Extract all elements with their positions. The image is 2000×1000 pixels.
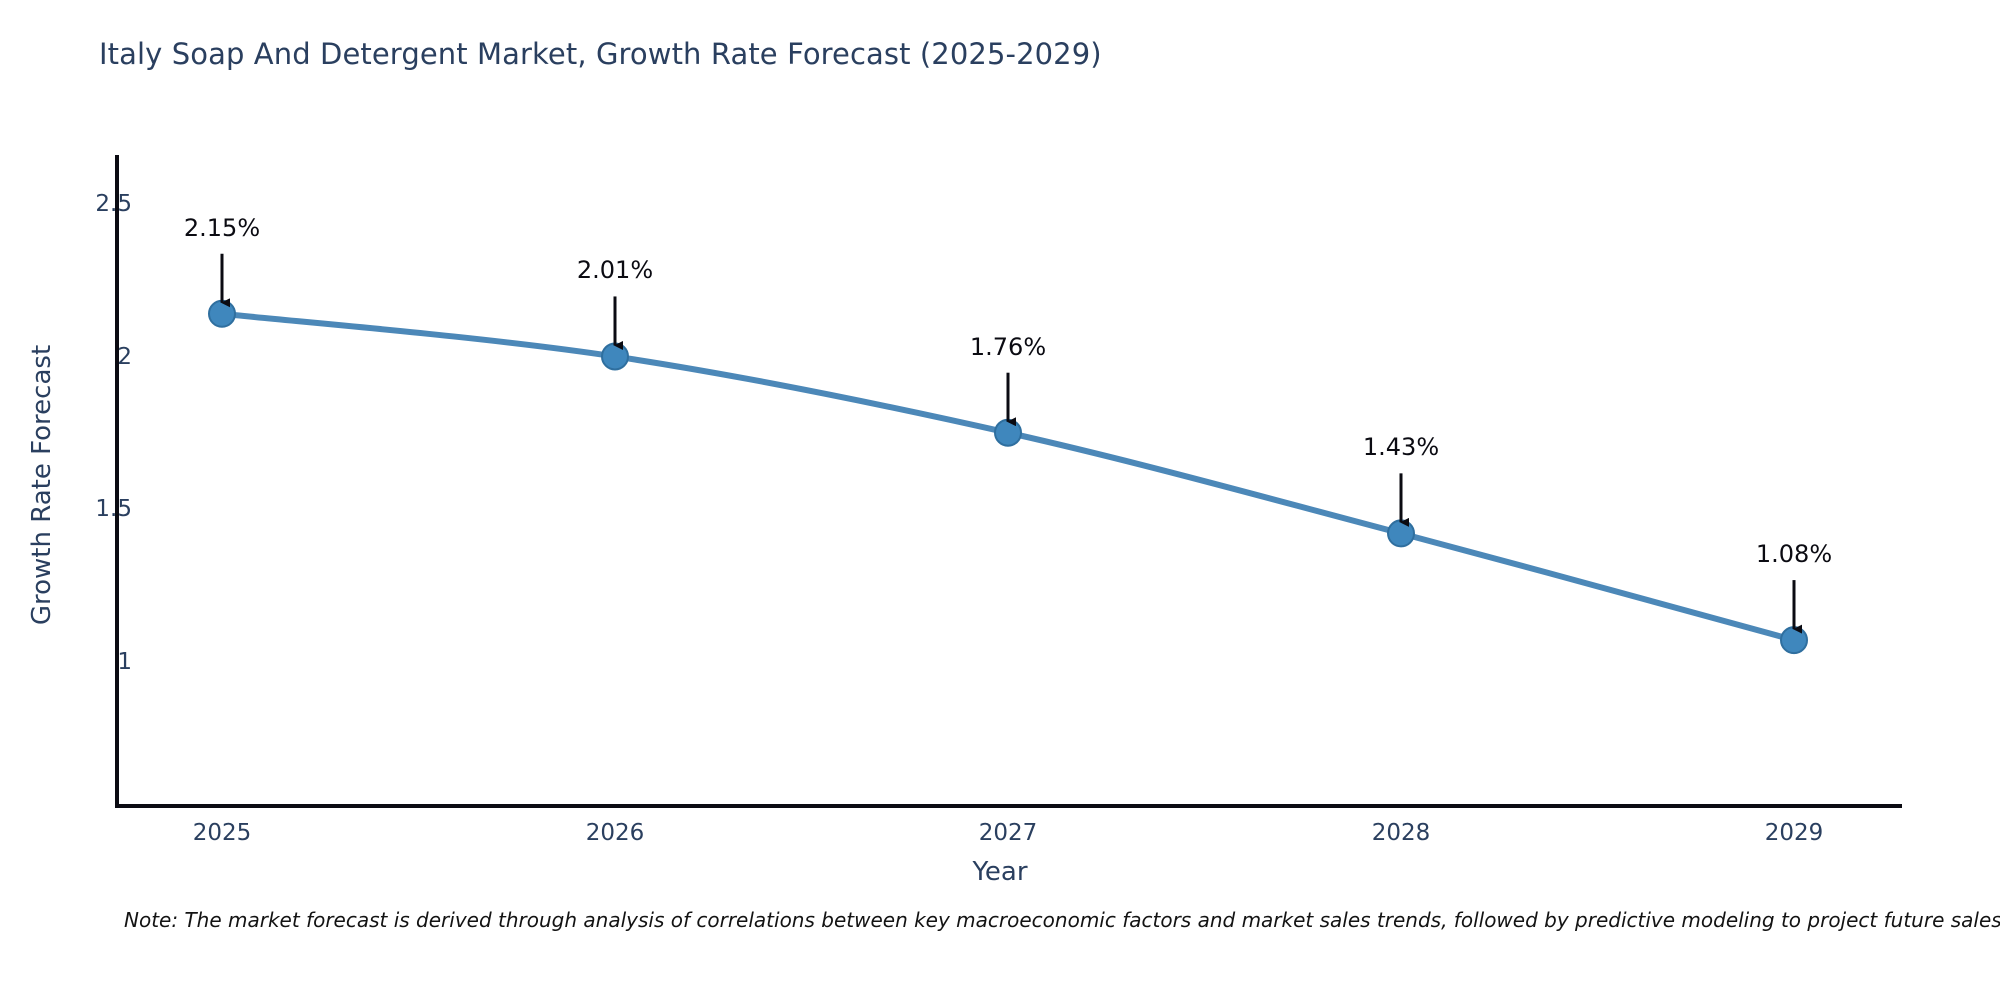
data-point-label: 1.43%: [1281, 433, 1521, 461]
plot-area: [0, 0, 2000, 1000]
data-point-marker[interactable]: [1388, 520, 1414, 546]
line-path: [222, 314, 1794, 640]
data-point-marker[interactable]: [209, 301, 235, 327]
footnote-note: Note: The market forecast is derived thr…: [124, 908, 2000, 932]
data-point-marker[interactable]: [1781, 627, 1807, 653]
data-point-marker[interactable]: [602, 343, 628, 369]
data-point-label: 1.76%: [888, 333, 1128, 361]
chart-container: Italy Soap And Detergent Market, Growth …: [0, 0, 2000, 1000]
data-point-label: 2.15%: [102, 214, 342, 242]
data-point-label: 1.08%: [1674, 540, 1914, 568]
data-point-label: 2.01%: [495, 256, 735, 284]
data-point-marker[interactable]: [995, 420, 1021, 446]
data-series-line: [222, 314, 1794, 640]
